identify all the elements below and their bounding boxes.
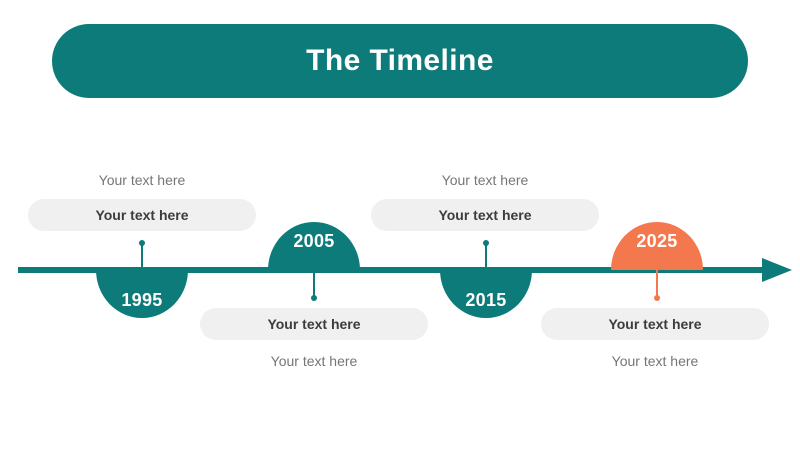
stem-line	[141, 243, 143, 271]
stem-dot	[483, 240, 489, 246]
milestone-pill-label-2025: Your text here	[608, 316, 701, 332]
milestone-pill-1995[interactable]: Your text here	[28, 199, 256, 231]
milestone-pill-2015[interactable]: Your text here	[371, 199, 599, 231]
milestone-marker-2015[interactable]: 2015	[440, 270, 532, 318]
milestone-year-2015: 2015	[465, 270, 506, 311]
stem-line	[485, 243, 487, 271]
milestone-caption-2025: Your text here	[575, 351, 735, 371]
stem-dot	[654, 295, 660, 301]
axis-arrow-icon	[762, 258, 792, 282]
milestone-stem-2005	[313, 270, 315, 298]
milestone-year-1995: 1995	[121, 270, 162, 311]
milestone-stem-2015	[485, 243, 487, 271]
milestone-year-2005: 2005	[293, 231, 334, 270]
milestone-year-2025: 2025	[636, 231, 677, 270]
milestone-marker-1995[interactable]: 1995	[96, 270, 188, 318]
title-banner: The Timeline	[52, 24, 748, 98]
milestone-stem-2025	[656, 270, 658, 298]
milestone-pill-label-2005: Your text here	[267, 316, 360, 332]
page-title: The Timeline	[306, 46, 494, 76]
stem-dot	[139, 240, 145, 246]
milestone-marker-2005[interactable]: 2005	[268, 222, 360, 270]
milestone-caption-1995: Your text here	[62, 170, 222, 190]
milestone-pill-2005[interactable]: Your text here	[200, 308, 428, 340]
milestone-pill-label-2015: Your text here	[438, 207, 531, 223]
stem-dot	[311, 295, 317, 301]
milestone-caption-2005: Your text here	[234, 351, 394, 371]
stem-line	[656, 270, 658, 298]
stem-line	[313, 270, 315, 298]
milestone-stem-1995	[141, 243, 143, 271]
milestone-marker-2025[interactable]: 2025	[611, 222, 703, 270]
timeline-slide: The Timeline Your text here Your text he…	[0, 0, 800, 450]
milestone-caption-2015: Your text here	[405, 170, 565, 190]
milestone-pill-label-1995: Your text here	[95, 207, 188, 223]
milestone-pill-2025[interactable]: Your text here	[541, 308, 769, 340]
